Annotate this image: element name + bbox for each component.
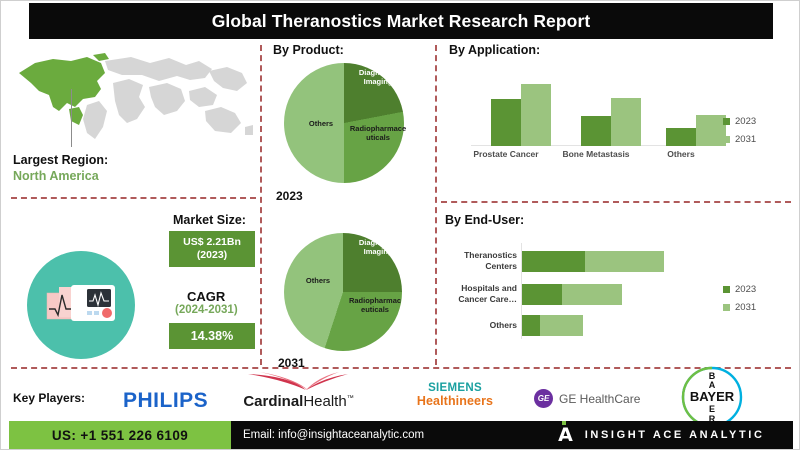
page-title: Global Theranostics Market Research Repo… bbox=[212, 11, 591, 32]
divider-vertical-left bbox=[260, 45, 262, 365]
infographic-root: Global Theranostics Market Research Repo… bbox=[0, 0, 800, 450]
report-title-bar: Global Theranostics Market Research Repo… bbox=[29, 3, 773, 39]
enduser-legend-swatch-2023 bbox=[723, 286, 730, 293]
legend-item-2023: 2023 bbox=[723, 116, 756, 127]
enduser-cat2-line1: Hospitals and bbox=[439, 283, 517, 294]
pie-2023-rp-line2: uticals bbox=[342, 134, 414, 143]
ge-monogram-icon: GE bbox=[534, 389, 553, 408]
divider-horizontal-left bbox=[11, 197, 256, 199]
enduser-category-theranostics: Theranostics Centers bbox=[439, 250, 517, 271]
pie-2023-di-line2: Imaging bbox=[346, 78, 410, 87]
cardinal-name-light: Health bbox=[303, 393, 346, 410]
largest-region-block: Largest Region: North America bbox=[13, 153, 213, 183]
legend-item-2031: 2031 bbox=[723, 134, 756, 145]
legend-swatch-2023 bbox=[723, 118, 730, 125]
footer-email[interactable]: Email: info@insightaceanalytic.com bbox=[243, 429, 424, 441]
legend-swatch-2031 bbox=[723, 136, 730, 143]
pie-2023-slice-others: Others bbox=[289, 120, 353, 129]
pie-2023-others-label: Others bbox=[309, 119, 333, 128]
footer-brand: A INSIGHT ACE ANALYTIC bbox=[558, 424, 764, 446]
bar-prostate-2023 bbox=[491, 99, 521, 146]
cagr-label: CAGR bbox=[187, 289, 225, 304]
bar-others-2023 bbox=[666, 128, 696, 146]
section-by-application: By Application: bbox=[449, 43, 540, 57]
cardinal-name-bold: Cardinal bbox=[243, 393, 303, 410]
bar-group-others bbox=[666, 115, 726, 146]
cardinal-health-name: CardinalHealth™ bbox=[236, 393, 361, 410]
siemens-name: SIEMENS bbox=[405, 382, 505, 394]
footer-bar: Email: info@insightaceanalytic.com A INS… bbox=[231, 421, 793, 449]
bar-group-prostate-cancer bbox=[491, 84, 551, 146]
largest-region-value: North America bbox=[13, 169, 213, 183]
bar-bone-2023 bbox=[581, 116, 611, 146]
ge-healthcare-text: GE HealthCare bbox=[559, 392, 640, 406]
enduser-category-others: Others bbox=[439, 320, 517, 331]
map-pointer-line bbox=[71, 89, 72, 147]
hbar-row-hospitals bbox=[522, 284, 622, 305]
key-players-label: Key Players: bbox=[13, 391, 85, 405]
world-map-icon bbox=[9, 45, 254, 150]
pie-2031-slice-diagnostic-imaging: Diagnostic Imaging bbox=[346, 239, 410, 256]
cagr-range: (2024-2031) bbox=[175, 304, 238, 316]
cardinal-tm: ™ bbox=[347, 395, 354, 402]
section-by-product: By Product: bbox=[273, 43, 344, 57]
application-category-others: Others bbox=[626, 149, 736, 159]
healthineers-name: Healthineers bbox=[405, 394, 505, 408]
cagr-value: 14.38% bbox=[191, 329, 233, 343]
application-chart-legend: 2023 2031 bbox=[723, 116, 756, 152]
footer-phone-text: US: +1 551 226 6109 bbox=[52, 428, 188, 443]
divider-horizontal-bottom bbox=[11, 367, 791, 369]
pie-2031-di-line2: Imaging bbox=[346, 248, 410, 257]
philips-logo-text: PHILIPS bbox=[123, 389, 208, 412]
world-map bbox=[9, 45, 254, 150]
divider-horizontal-right bbox=[441, 201, 791, 203]
cagr-value-box: 14.38% bbox=[169, 323, 255, 349]
enduser-legend-label-2031: 2031 bbox=[735, 302, 756, 313]
section-by-end-user: By End-User: bbox=[445, 213, 524, 227]
bayer-logo: B A BAYER E R bbox=[681, 366, 743, 428]
hbar-hospitals-2031 bbox=[562, 284, 622, 305]
enduser-cat1-line1: Theranostics bbox=[439, 250, 517, 261]
cardinal-swoosh-icon bbox=[236, 372, 361, 392]
philips-logo: PHILIPS bbox=[123, 389, 208, 413]
siemens-healthineers-logo: SIEMENS Healthineers bbox=[405, 382, 505, 408]
market-size-value-box: US$ 2.21Bn (2023) bbox=[169, 231, 255, 267]
pie-2031-rp-line2: euticals bbox=[339, 306, 411, 315]
bar-group-bone-metastasis bbox=[581, 98, 641, 146]
enduser-category-hospitals: Hospitals and Cancer Care… bbox=[439, 283, 517, 304]
pie-2031-slice-radiopharmaceuticals: Radiopharmac euticals bbox=[339, 297, 411, 314]
hbar-theranostics-2023 bbox=[522, 251, 585, 272]
hbar-hospitals-2023 bbox=[522, 284, 562, 305]
hbar-row-theranostics bbox=[522, 251, 664, 272]
footer-phone[interactable]: US: +1 551 226 6109 bbox=[9, 421, 231, 449]
ge-healthcare-logo: GE GE HealthCare bbox=[534, 389, 640, 408]
hbar-theranostics-2031 bbox=[585, 251, 664, 272]
pie-2023-slice-diagnostic-imaging: Diagnostic Imaging bbox=[346, 69, 410, 86]
enduser-chart-legend: 2023 2031 bbox=[723, 284, 756, 320]
enduser-legend-label-2023: 2023 bbox=[735, 284, 756, 295]
hbar-others-2023 bbox=[522, 315, 540, 336]
hbar-others-2031 bbox=[540, 315, 583, 336]
bar-prostate-2031 bbox=[521, 84, 551, 146]
enduser-cat1-line2: Centers bbox=[439, 261, 517, 272]
largest-region-label: Largest Region: bbox=[13, 153, 213, 167]
application-bar-chart bbox=[471, 71, 721, 146]
pie-2031-others-label: Others bbox=[306, 276, 330, 285]
insightace-mark-icon: A bbox=[558, 424, 573, 446]
hbar-row-others bbox=[522, 315, 583, 336]
footer-brand-name: INSIGHT ACE ANALYTIC bbox=[585, 429, 765, 441]
pie-2031-slice-others: Others bbox=[286, 277, 350, 286]
enduser-legend-item-2031: 2031 bbox=[723, 302, 756, 313]
divider-vertical-right bbox=[435, 45, 437, 365]
market-size-year: (2023) bbox=[197, 249, 227, 262]
pie-2031-year: 2031 bbox=[278, 356, 305, 370]
ecg-monitor-icon bbox=[41, 265, 121, 345]
market-size-value: US$ 2.21Bn bbox=[183, 236, 241, 249]
legend-label-2031: 2031 bbox=[735, 134, 756, 145]
cardinal-health-logo: CardinalHealth™ bbox=[236, 372, 361, 410]
pie-2023-year: 2023 bbox=[276, 189, 303, 203]
enduser-legend-swatch-2031 bbox=[723, 304, 730, 311]
enduser-cat2-line2: Cancer Care… bbox=[439, 294, 517, 305]
legend-label-2023: 2023 bbox=[735, 116, 756, 127]
enduser-cat3-label: Others bbox=[439, 320, 517, 331]
bar-others-2031 bbox=[696, 115, 726, 146]
bar-bone-2031 bbox=[611, 98, 641, 146]
svg-text:E: E bbox=[709, 404, 715, 414]
market-size-label: Market Size: bbox=[173, 213, 246, 227]
svg-text:BAYER: BAYER bbox=[690, 389, 735, 404]
enduser-legend-item-2023: 2023 bbox=[723, 284, 756, 295]
